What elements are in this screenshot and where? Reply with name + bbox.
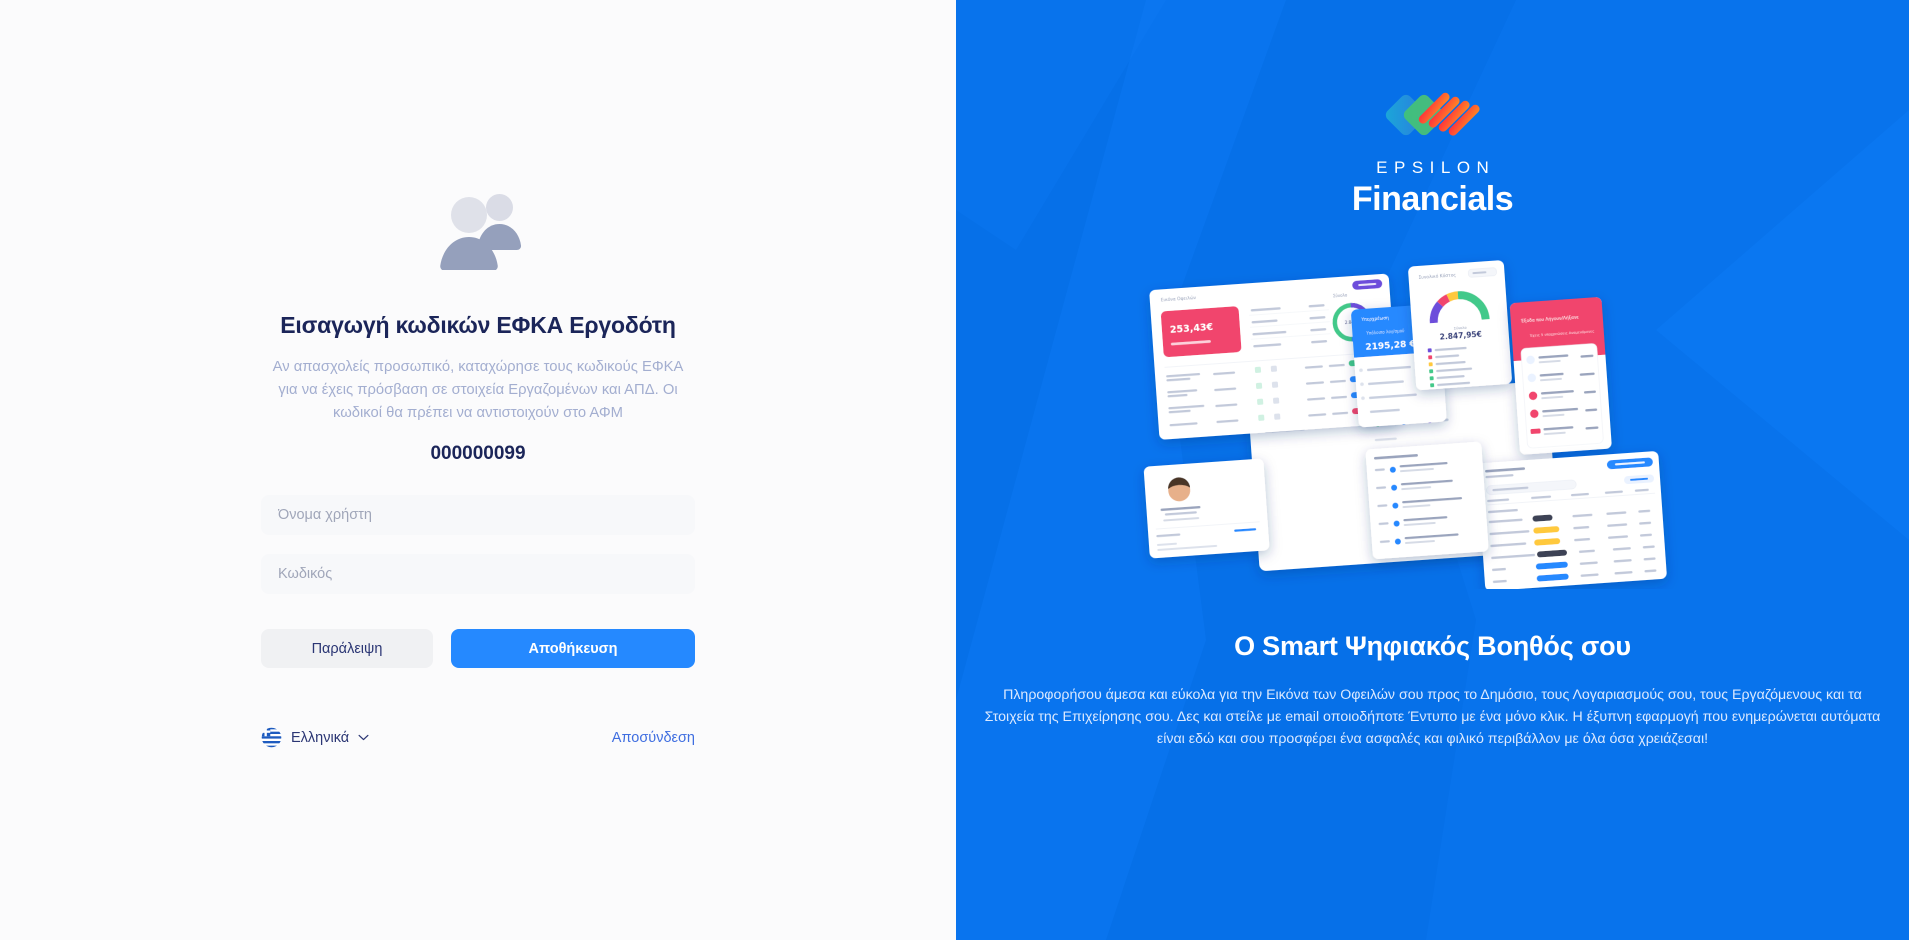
page-title: Εισαγωγή κωδικών ΕΦΚΑ Εργοδότη (280, 312, 675, 339)
language-label: Ελληνικά (291, 730, 349, 746)
footer-bar: Ελληνικά Αποσύνδεση (261, 727, 695, 748)
svg-text:Σύνολο: Σύνολο (1332, 292, 1347, 298)
skip-button[interactable]: Παράλειψη (261, 629, 433, 668)
promo-heading: Ο Smart Ψηφιακός Βοηθός σου (1234, 631, 1631, 662)
form-actions: Παράλειψη Αποθήκευση (261, 629, 695, 668)
greece-flag-icon (261, 727, 282, 748)
username-input[interactable] (261, 495, 695, 535)
right-promo-panel: EPSILON Financials Εγγραφή Εξόδων (956, 0, 1909, 940)
left-form-panel: Εισαγωγή κωδικών ΕΦΚΑ Εργοδότη Αν απασχο… (0, 0, 956, 940)
people-icon (428, 186, 528, 270)
chevron-down-icon (358, 734, 369, 741)
afm-value: 000000099 (430, 443, 525, 465)
language-selector[interactable]: Ελληνικά (261, 727, 369, 748)
password-input[interactable] (261, 554, 695, 594)
dashboard-mockup-illustration: Εγγραφή Εξόδων (1133, 249, 1733, 589)
epsilon-logo-mark (1380, 86, 1486, 144)
brand-name-bottom: Financials (1352, 180, 1513, 219)
logout-link[interactable]: Αποσύνδεση (612, 730, 695, 746)
page-subtitle: Αν απασχολείς προσωπικό, καταχώρησε τους… (263, 356, 693, 425)
promo-body: Πληροφορήσου άμεσα και εύκολα για την Ει… (983, 684, 1883, 750)
login-page: Εισαγωγή κωδικών ΕΦΚΑ Εργοδότη Αν απασχο… (0, 0, 1909, 940)
save-button[interactable]: Αποθήκευση (451, 629, 695, 668)
brand-name-top: EPSILON (1370, 158, 1496, 178)
brand-logo: EPSILON Financials (1352, 86, 1513, 219)
form-container: Εισαγωγή κωδικών ΕΦΚΑ Εργοδότη Αν απασχο… (261, 186, 695, 668)
